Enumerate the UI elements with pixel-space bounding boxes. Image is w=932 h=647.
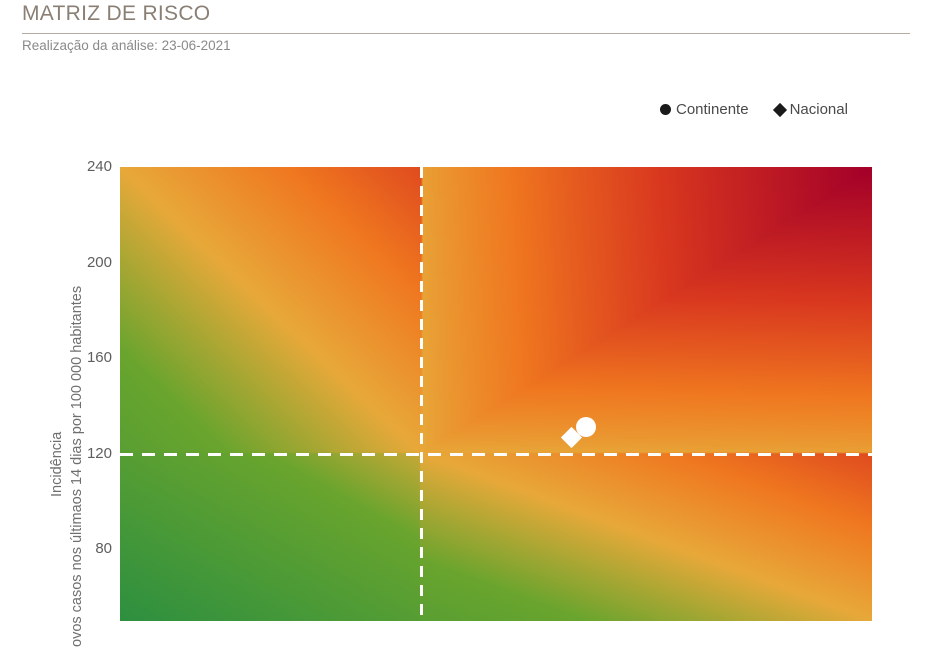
y-tick-label: 80: [68, 540, 112, 557]
risk-heatmap-gradient: [120, 167, 872, 621]
legend-label-continente: Continente: [676, 101, 749, 118]
vertical-threshold-line: [420, 167, 423, 621]
horizontal-threshold-line: [120, 453, 872, 456]
y-tick-label: 200: [68, 254, 112, 271]
y-axis-title: Incidência ovos casos nos últimaos 14 di…: [0, 167, 70, 621]
circle-marker-icon: [660, 104, 671, 115]
y-axis-title-line-1: Incidência: [49, 432, 65, 497]
analysis-date-label: Realização da análise: 23-06-2021: [22, 38, 231, 53]
chart-legend: Continente Nacional: [660, 101, 848, 118]
legend-label-nacional: Nacional: [790, 101, 848, 118]
y-tick-label: 120: [68, 445, 112, 462]
title-divider: [22, 33, 910, 34]
diamond-marker-icon: [772, 102, 786, 116]
y-axis-ticks: 24020016012080: [68, 0, 112, 621]
legend-item-continente[interactable]: Continente: [660, 101, 749, 118]
risk-matrix-plot[interactable]: [120, 167, 872, 621]
y-tick-label: 240: [68, 158, 112, 175]
page-title: MATRIZ DE RISCO: [22, 2, 210, 26]
y-tick-label: 160: [68, 349, 112, 366]
legend-item-nacional[interactable]: Nacional: [775, 101, 848, 118]
